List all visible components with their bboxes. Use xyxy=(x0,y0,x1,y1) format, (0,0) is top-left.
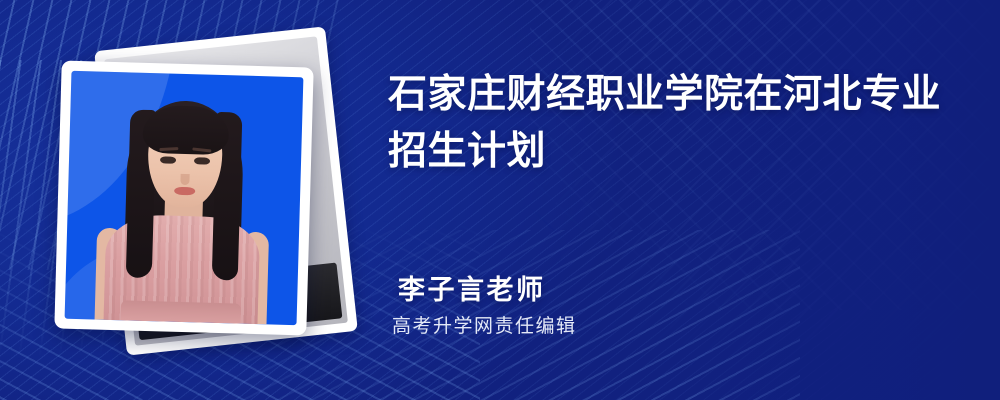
photo-card-front xyxy=(54,61,313,336)
page-title: 石家庄财经职业学院在河北专业招生计划 xyxy=(388,66,968,180)
author-photo-stack xyxy=(48,28,368,368)
author-portrait-photo xyxy=(65,71,304,325)
article-header-banner: 石家庄财经职业学院在河北专业招生计划 李子言老师 高考升学网责任编辑 xyxy=(0,0,1000,400)
portrait-eye-left xyxy=(160,156,176,163)
portrait-eye-right xyxy=(194,157,210,164)
author-name: 李子言老师 xyxy=(392,270,812,310)
author-role: 高考升学网责任编辑 xyxy=(392,312,812,342)
portrait-lips xyxy=(174,187,195,196)
portrait-figure xyxy=(65,71,304,325)
portrait-garment-waist xyxy=(121,300,242,323)
banner-text-block: 石家庄财经职业学院在河北专业招生计划 李子言老师 高考升学网责任编辑 xyxy=(388,66,968,180)
author-byline: 李子言老师 高考升学网责任编辑 xyxy=(392,270,812,342)
